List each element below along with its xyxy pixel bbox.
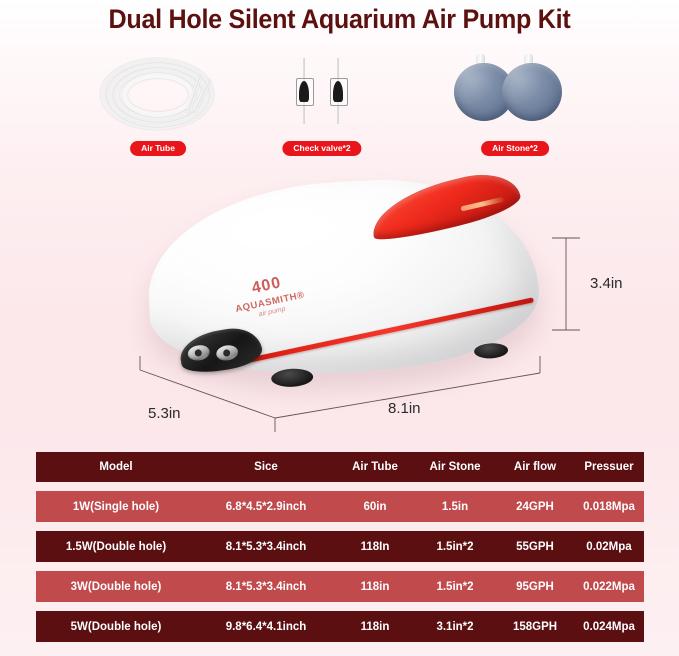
- cell-pressure: 0.02Mpa: [574, 541, 644, 553]
- cell-pressure: 0.022Mpa: [574, 581, 644, 593]
- table-row: 1W(Single hole) 6.8*4.5*2.9inch 60in 1.5…: [36, 491, 644, 522]
- cell-size: 8.1*5.3*3.4inch: [196, 581, 336, 593]
- cell-model: 5W(Double hole): [36, 621, 196, 633]
- cell-air-stone: 1.5in*2: [414, 541, 496, 553]
- brand-subtitle: air pump: [213, 296, 332, 328]
- table-row: 1.5W(Double hole) 8.1*5.3*3.4inch 118In …: [36, 531, 644, 562]
- cell-air-flow: 55GPH: [496, 541, 574, 553]
- cell-air-flow: 95GPH: [496, 581, 574, 593]
- cell-air-tube: 118In: [336, 541, 414, 553]
- cell-size: 6.8*4.5*2.9inch: [196, 501, 336, 513]
- cell-size: 9.8*6.4*4.1inch: [196, 621, 336, 633]
- dimension-width-label: 8.1in: [388, 400, 421, 417]
- table-header-row: Model Sice Air Tube Air Stone Air flow P…: [36, 452, 644, 482]
- accessory-label-check-valve: Check valve*2: [282, 141, 361, 156]
- cell-air-tube: 118in: [336, 581, 414, 593]
- page-title: Dual Hole Silent Aquarium Air Pump Kit: [24, 4, 655, 35]
- product-image-area: 400 AQUASMITH® air pump 3.4in 5.3in 8.1i…: [0, 160, 679, 435]
- cell-air-stone: 1.5in: [414, 501, 496, 513]
- cell-air-tube: 118in: [336, 621, 414, 633]
- cell-air-stone: 1.5in*2: [414, 581, 496, 593]
- cell-model: 1W(Single hole): [36, 501, 196, 513]
- specification-table: Model Sice Air Tube Air Stone Air flow P…: [36, 452, 644, 651]
- header-size: Sice: [196, 461, 336, 473]
- header-pressure: Pressuer: [574, 461, 644, 473]
- check-valve-icon: [281, 52, 363, 130]
- air-outlet-nozzle-2: [215, 344, 239, 363]
- table-row: 5W(Double hole) 9.8*6.4*4.1inch 118in 3.…: [36, 611, 644, 642]
- cell-size: 8.1*5.3*3.4inch: [196, 541, 336, 553]
- product-infographic: Dual Hole Silent Aquarium Air Pump Kit A…: [0, 0, 679, 656]
- cell-air-flow: 158GPH: [496, 621, 574, 633]
- brand-model-number: 400: [206, 266, 327, 307]
- body-highlight: [204, 195, 397, 275]
- accessory-label-air-tube: Air Tube: [130, 141, 186, 156]
- accessory-air-tube: Air Tube: [88, 52, 228, 156]
- cell-air-flow: 24GPH: [496, 501, 574, 513]
- accessory-label-air-stone: Air Stone*2: [481, 141, 549, 156]
- table-row: 3W(Double hole) 8.1*5.3*3.4inch 118in 1.…: [36, 571, 644, 602]
- dimension-height-label: 3.4in: [590, 275, 623, 292]
- brand-name: AQUASMITH®: [210, 284, 330, 320]
- air-outlet-panel: [177, 324, 265, 378]
- accessory-air-stone: Air Stone*2: [454, 52, 576, 156]
- cell-model: 1.5W(Double hole): [36, 541, 196, 553]
- cell-pressure: 0.018Mpa: [574, 501, 644, 513]
- header-air-flow: Air flow: [496, 461, 574, 473]
- air-stone-disc-icon: [454, 52, 576, 130]
- air-outlet-nozzle-1: [187, 344, 211, 363]
- dimension-depth-label: 5.3in: [148, 405, 181, 422]
- cell-model: 3W(Double hole): [36, 581, 196, 593]
- cell-air-stone: 3.1in*2: [414, 621, 496, 633]
- accessory-check-valve: Check valve*2: [281, 52, 363, 156]
- air-tube-coil-icon: [88, 52, 228, 130]
- brand-mark: 400 AQUASMITH® air pump: [206, 266, 331, 328]
- cell-pressure: 0.024Mpa: [574, 621, 644, 633]
- header-air-stone: Air Stone: [414, 461, 496, 473]
- header-air-tube: Air Tube: [336, 461, 414, 473]
- cell-air-tube: 60in: [336, 501, 414, 513]
- header-model: Model: [36, 461, 196, 473]
